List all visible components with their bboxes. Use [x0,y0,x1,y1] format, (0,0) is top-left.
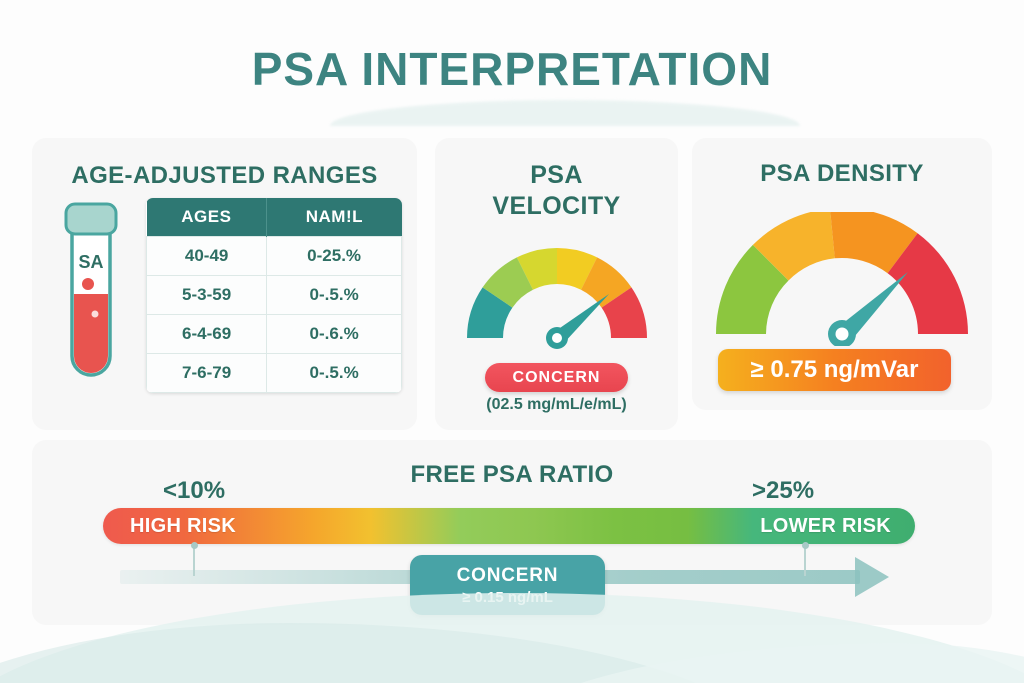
ratio-marker-pin-low [193,548,195,576]
psa-velocity-title-line2: VELOCITY [435,191,678,222]
table-row: 7-6-79 0-.5.% [147,354,402,393]
psa-velocity-title-line1: PSA [435,160,678,191]
cell-age: 7-6-79 [147,354,267,393]
table-row: 5-3-59 0-.5.% [147,276,402,315]
table-row: 6-4-69 0-.6.% [147,315,402,354]
psa-density-gauge [703,212,981,351]
ratio-percent-low: <10% [163,477,225,505]
cell-range: 0-.6.% [267,315,402,354]
velocity-caption: (02.5 mg/mL/e/mL) [435,396,678,414]
high-risk-label: HIGH RISK [103,515,236,538]
test-tube-label: SA [78,252,103,272]
velocity-concern-badge: CONCERN [485,363,628,392]
ratio-marker-pin-high [804,548,806,576]
psa-velocity-gauge [458,238,656,355]
lower-risk-label: LOWER RISK [760,515,915,538]
test-tube-icon: SA [58,196,124,397]
table-row: 40-49 0-25.% [147,237,402,276]
table-header-row: AGES NAM!L [147,198,402,237]
cell-age: 6-4-69 [147,315,267,354]
psa-velocity-title: PSA VELOCITY [435,138,678,221]
page-title: PSA INTERPRETATION [0,42,1024,96]
cell-range: 0-25.% [267,237,402,276]
ratio-concern-title: CONCERN [457,565,559,587]
psa-density-title: PSA DENSITY [692,138,992,188]
risk-gradient-bar: HIGH RISK LOWER RISK [103,508,915,544]
age-ranges-table: AGES NAM!L 40-49 0-25.% 5-3-59 0-.5.% 6-… [146,198,402,393]
cell-range: 0-.5.% [267,354,402,393]
infographic-root: PSA INTERPRETATION AGE-ADJUSTED RANGES S… [0,0,1024,683]
cell-range: 0-.5.% [267,276,402,315]
ratio-percent-high: >25% [752,477,814,505]
cell-age: 5-3-59 [147,276,267,315]
psa-density-badge: ≥ 0.75 ng/mVar [718,349,951,391]
age-ranges-title: AGE-ADJUSTED RANGES [32,138,417,190]
cell-age: 40-49 [147,237,267,276]
wave-decoration-top [330,100,800,126]
ratio-arrow-head-icon [855,557,889,597]
column-header-ages: AGES [147,198,267,237]
column-header-value: NAM!L [267,198,402,237]
